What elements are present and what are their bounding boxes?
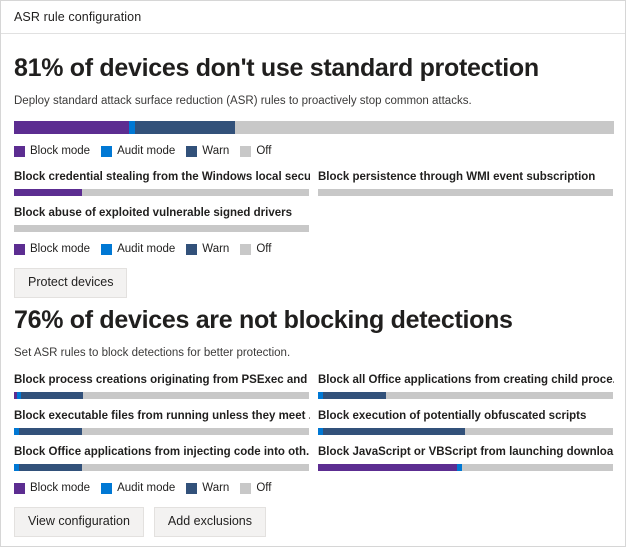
bar-segment-block-mode	[318, 464, 457, 471]
rule-item[interactable]: Block execution of potentially obfuscate…	[318, 409, 614, 435]
bar-segment-off	[83, 392, 309, 399]
legend-item-label: Audit mode	[117, 145, 175, 157]
rule-title: Block executable files from running unle…	[14, 409, 310, 423]
rule-title: Block credential stealing from the Windo…	[14, 170, 310, 184]
asr-rule-configuration-card: ASR rule configuration 81% of devices do…	[0, 0, 626, 547]
legend-item-block-mode: Block mode	[14, 243, 90, 255]
legend-item-label: Warn	[202, 243, 229, 255]
add-exclusions-button[interactable]: Add exclusions	[154, 507, 266, 537]
section-title-blocking-detections: 76% of devices are not blocking detectio…	[14, 305, 612, 335]
legend-item-label: Warn	[202, 145, 229, 157]
rule-progress-bar	[318, 189, 613, 196]
bar-segment-off	[82, 428, 309, 435]
rule-progress-bar	[318, 428, 613, 435]
legend-middle: Block modeAudit modeWarnOff	[14, 243, 612, 255]
rule-progress-bar	[14, 428, 309, 435]
legend-item-warn: Warn	[186, 243, 229, 255]
legend-swatch-icon	[240, 146, 251, 157]
bar-segment-warn	[323, 428, 465, 435]
card-body: 81% of devices don't use standard protec…	[1, 34, 625, 537]
rule-item[interactable]: Block credential stealing from the Windo…	[14, 170, 310, 196]
rule-progress-bar	[14, 464, 309, 471]
bar-segment-off	[462, 464, 613, 471]
rule-item[interactable]: Block JavaScript or VBScript from launch…	[318, 445, 614, 471]
section-subtext: Deploy standard attack surface reduction…	[14, 94, 612, 108]
legend-item-audit-mode: Audit mode	[101, 145, 175, 157]
bar-segment-off	[82, 464, 309, 471]
legend-item-off: Off	[240, 145, 271, 157]
section-actions-protect: Protect devices	[14, 268, 612, 298]
legend-item-block-mode: Block mode	[14, 482, 90, 494]
legend-item-off: Off	[240, 482, 271, 494]
legend-item-audit-mode: Audit mode	[101, 243, 175, 255]
card-title: ASR rule configuration	[14, 10, 141, 24]
legend-item-audit-mode: Audit mode	[101, 482, 175, 494]
legend-item-label: Block mode	[30, 145, 90, 157]
bar-segment-warn	[323, 392, 386, 399]
legend-swatch-icon	[101, 244, 112, 255]
rule-title: Block persistence through WMI event subs…	[318, 170, 614, 184]
rule-item[interactable]: Block abuse of exploited vulnerable sign…	[14, 206, 310, 232]
legend-swatch-icon	[186, 146, 197, 157]
legend-swatch-icon	[240, 483, 251, 494]
rule-progress-bar	[318, 464, 613, 471]
bar-segment-warn	[19, 464, 82, 471]
legend-swatch-icon	[240, 244, 251, 255]
bar-segment-off	[235, 121, 614, 134]
legend-item-label: Warn	[202, 482, 229, 494]
legend-item-warn: Warn	[186, 482, 229, 494]
rule-item[interactable]: Block Office applications from injecting…	[14, 445, 310, 471]
legend-top: Block modeAudit modeWarnOff	[14, 145, 612, 157]
bar-segment-off	[82, 189, 309, 196]
legend-item-label: Off	[256, 145, 271, 157]
rule-title: Block Office applications from injecting…	[14, 445, 310, 459]
bar-segment-off	[465, 428, 613, 435]
rule-progress-bar	[14, 189, 309, 196]
rule-progress-bar	[318, 392, 613, 399]
legend-swatch-icon	[14, 244, 25, 255]
rule-title: Block all Office applications from creat…	[318, 373, 614, 387]
rule-progress-bar	[14, 392, 309, 399]
rule-list-standard-protection: Block credential stealing from the Windo…	[14, 170, 612, 232]
legend-item-block-mode: Block mode	[14, 145, 90, 157]
card-titlebar: ASR rule configuration	[1, 1, 625, 34]
rule-title: Block abuse of exploited vulnerable sign…	[14, 206, 310, 220]
legend-item-label: Block mode	[30, 243, 90, 255]
rule-item[interactable]: Block executable files from running unle…	[14, 409, 310, 435]
bar-segment-off	[14, 225, 309, 232]
legend-swatch-icon	[101, 483, 112, 494]
rule-title: Block JavaScript or VBScript from launch…	[318, 445, 614, 459]
rule-list-blocking-detections: Block process creations originating from…	[14, 373, 612, 471]
rule-item[interactable]: Block persistence through WMI event subs…	[318, 170, 614, 196]
legend-item-label: Off	[256, 482, 271, 494]
legend-swatch-icon	[101, 146, 112, 157]
rule-title: Block process creations originating from…	[14, 373, 310, 387]
bar-segment-warn	[19, 428, 82, 435]
legend-item-label: Block mode	[30, 482, 90, 494]
legend-item-label: Off	[256, 243, 271, 255]
legend-item-warn: Warn	[186, 145, 229, 157]
legend-item-label: Audit mode	[117, 243, 175, 255]
legend-bottom: Block modeAudit modeWarnOff	[14, 482, 612, 494]
rule-item[interactable]: Block process creations originating from…	[14, 373, 310, 399]
section-subtext-blocking-detections: Set ASR rules to block detections for be…	[14, 346, 612, 360]
rule-title: Block execution of potentially obfuscate…	[318, 409, 614, 423]
section-actions-configuration: View configuration Add exclusions	[14, 507, 612, 537]
protect-devices-button[interactable]: Protect devices	[14, 268, 127, 298]
rule-progress-bar	[14, 225, 309, 232]
legend-item-label: Audit mode	[117, 482, 175, 494]
legend-swatch-icon	[14, 483, 25, 494]
bar-segment-warn	[21, 392, 83, 399]
legend-item-off: Off	[240, 243, 271, 255]
section-standard-protection: 81% of devices don't use standard protec…	[14, 53, 612, 298]
bar-segment-off	[318, 189, 613, 196]
section-blocking-detections: 76% of devices are not blocking detectio…	[14, 305, 612, 537]
bar-segment-off	[386, 392, 613, 399]
legend-swatch-icon	[186, 244, 197, 255]
summary-progress-bar	[14, 121, 614, 134]
bar-segment-warn	[135, 121, 236, 134]
legend-swatch-icon	[14, 146, 25, 157]
rule-item[interactable]: Block all Office applications from creat…	[318, 373, 614, 399]
bar-segment-block-mode	[14, 189, 82, 196]
legend-swatch-icon	[186, 483, 197, 494]
view-configuration-button[interactable]: View configuration	[14, 507, 144, 537]
page-title: 81% of devices don't use standard protec…	[14, 53, 612, 83]
bar-segment-block-mode	[14, 121, 129, 134]
